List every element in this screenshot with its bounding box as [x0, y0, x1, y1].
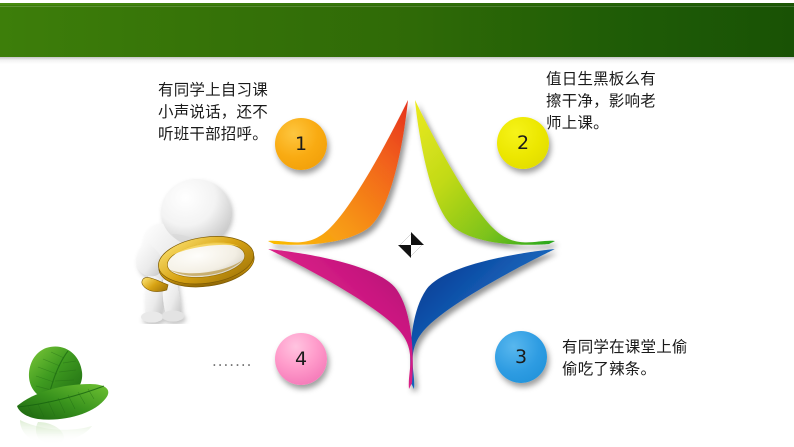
callout-text-2: 值日生黑板么有 擦干净，影响老 师上课。 — [546, 68, 698, 134]
banner-drop-shadow — [0, 57, 794, 64]
checkered-diamond-icon — [398, 232, 424, 258]
ellipsis-text: ....... — [212, 352, 252, 370]
callout-text-3: 有同学在课堂上偷 偷吃了辣条。 — [562, 336, 722, 380]
number-circle-3[interactable]: 3 — [495, 331, 547, 383]
figure-head — [161, 179, 231, 245]
banner-highlight — [0, 6, 794, 7]
number-circle-2[interactable]: 2 — [497, 117, 549, 169]
number-circle-3-label: 3 — [515, 346, 527, 368]
top-green-banner — [0, 3, 794, 59]
number-circle-4-label: 4 — [295, 348, 307, 370]
green-leaves-decoration — [2, 318, 124, 446]
leaf-lying — [17, 384, 108, 420]
banner-fill — [0, 3, 794, 57]
slide-canvas: 1 2 3 4 有同学上自习课 小声说话，还不 听班干部招呼。 值日生黑板么有 … — [0, 0, 794, 447]
banner-top-edge — [0, 3, 794, 5]
3d-person-with-magnifier — [128, 172, 262, 324]
number-circle-2-label: 2 — [517, 132, 529, 154]
number-circle-4[interactable]: 4 — [275, 333, 327, 385]
leaf-reflection — [20, 420, 92, 444]
callout-text-1: 有同学上自习课 小声说话，还不 听班干部招呼。 — [158, 79, 300, 145]
